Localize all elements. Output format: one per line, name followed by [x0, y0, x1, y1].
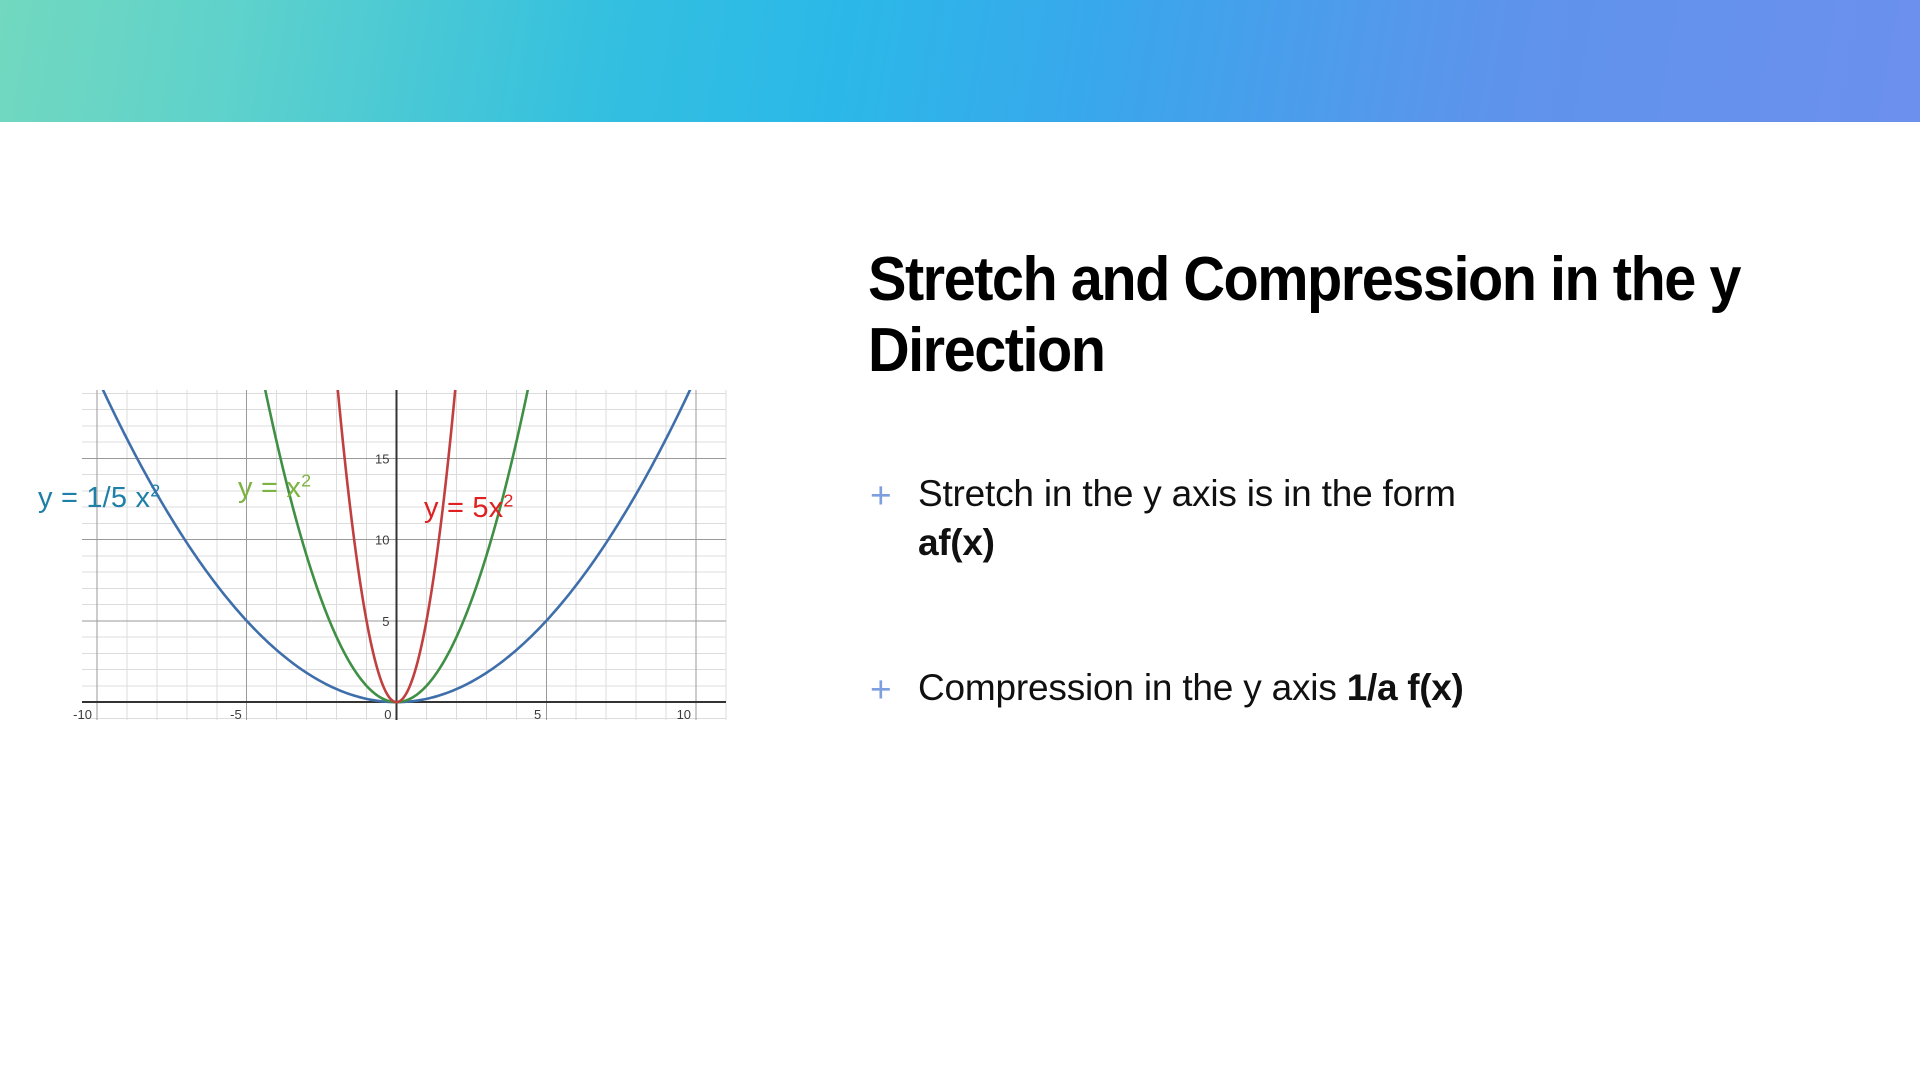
list-item: + Compression in the y axis 1/a f(x)	[870, 664, 1770, 715]
top-gradient-banner	[0, 0, 1920, 122]
x-tick-label: -10	[73, 707, 92, 722]
parabola-graph-figure: -10-5051051015 y = 1/5 x2 y = x2 y = 5x2	[0, 122, 820, 1080]
x-tick-label: 0	[384, 707, 391, 722]
curve-label-compression-text: y = 1/5 x	[38, 482, 150, 514]
bullet-1-emphasis: 1/a f(x)	[1347, 667, 1464, 708]
list-item: + Stretch in the y axis is in the formaf…	[870, 470, 1770, 568]
curve-label-stretch-text: y = 5x	[424, 492, 503, 524]
x-tick-label: -5	[230, 707, 242, 722]
bullet-0-text: Stretch in the y axis is in the form	[918, 473, 1456, 514]
y-tick-label: 5	[382, 614, 389, 629]
bullet-1-text: Compression in the y axis	[918, 667, 1347, 708]
x-tick-label: 5	[534, 707, 541, 722]
curve-label-parent-text: y = x	[238, 472, 301, 504]
page-title: Stretch and Compression in the y Directi…	[868, 244, 1761, 387]
content-panel: Stretch and Compression in the y Directi…	[868, 122, 1868, 1080]
curve-label-compression: y = 1/5 x2	[38, 484, 160, 513]
bullet-0-emphasis: af(x)	[918, 519, 1770, 568]
y-tick-label: 15	[375, 451, 389, 466]
curve-label-stretch: y = 5x2	[424, 494, 514, 523]
parabola-graph-svg: -10-5051051015	[0, 122, 760, 762]
bullet-list: + Stretch in the y axis is in the formaf…	[870, 470, 1770, 714]
curve-label-parent: y = x2	[238, 474, 311, 503]
plot-background	[82, 390, 726, 720]
y-tick-label: 10	[375, 533, 389, 548]
x-tick-label: 10	[677, 707, 691, 722]
curve-label-compression-exponent: 2	[150, 480, 160, 500]
bullet-text-stretch: Stretch in the y axis is in the formaf(x…	[918, 470, 1770, 568]
slide-body: -10-5051051015 y = 1/5 x2 y = x2 y = 5x2…	[0, 122, 1920, 1080]
plus-bullet-icon: +	[870, 470, 918, 521]
curve-label-stretch-exponent: 2	[503, 490, 513, 510]
bullet-text-compression: Compression in the y axis 1/a f(x)	[918, 664, 1770, 713]
curve-label-parent-exponent: 2	[301, 470, 311, 490]
plus-bullet-icon: +	[870, 664, 918, 715]
